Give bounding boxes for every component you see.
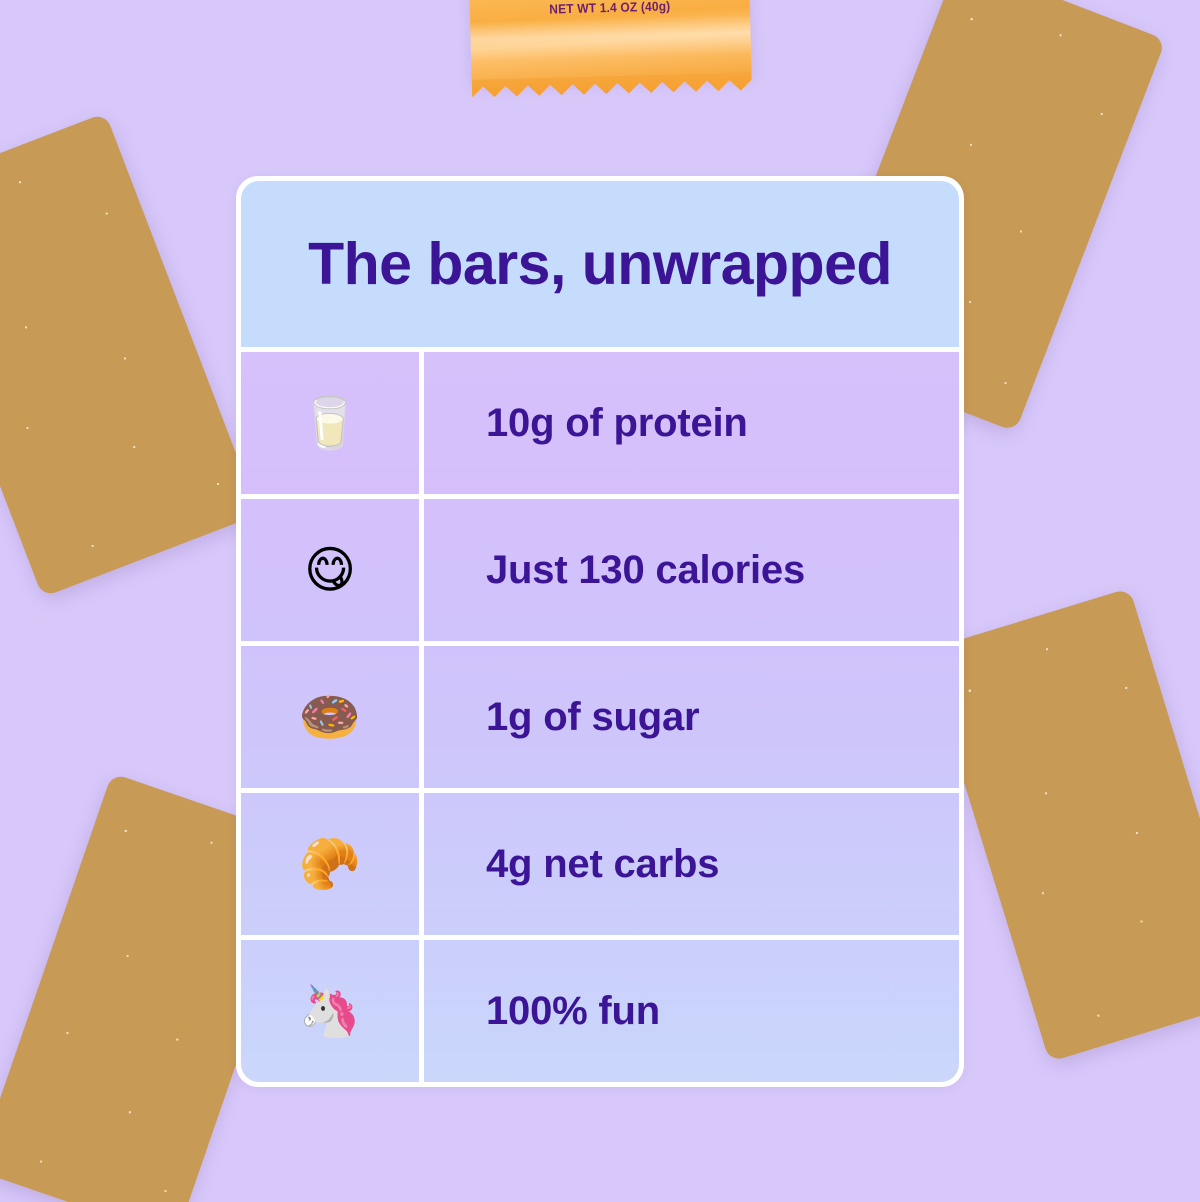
croissant-icon: 🥐: [241, 793, 419, 935]
doughnut-icon: 🍩: [241, 646, 419, 788]
fact-row-sugar: 🍩 1g of sugar: [241, 646, 959, 788]
orange-bar-wrapper-photo: NET WT 1.4 OZ (40g): [468, 0, 752, 98]
fact-row-fun: 🦄 100% fun: [241, 940, 959, 1082]
glass-of-milk-icon: 🥛: [241, 352, 419, 494]
fact-label-fun: 100% fun: [486, 989, 660, 1034]
fact-row-net-carbs: 🥐 4g net carbs: [241, 793, 959, 935]
fact-label-calories: Just 130 calories: [486, 548, 805, 593]
unicorn-face-icon: 🦄: [241, 940, 419, 1082]
fact-label-protein: 10g of protein: [486, 401, 748, 446]
fact-label-sugar: 1g of sugar: [486, 695, 699, 740]
fact-label-cell-protein: 10g of protein: [424, 352, 959, 494]
fact-label-cell-sugar: 1g of sugar: [424, 646, 959, 788]
card-header: The bars, unwrapped: [241, 181, 959, 347]
fact-label-cell-net-carbs: 4g net carbs: [424, 793, 959, 935]
fact-label-net-carbs: 4g net carbs: [486, 842, 719, 887]
fact-label-cell-fun: 100% fun: [424, 940, 959, 1082]
protein-bar-photo-top-left: [0, 113, 259, 598]
fact-row-protein: 🥛 10g of protein: [241, 352, 959, 494]
facts-list: 🥛 10g of protein 😋 Just 130 calories 🍩 1…: [241, 352, 959, 1082]
fact-row-calories: 😋 Just 130 calories: [241, 499, 959, 641]
yum-face-icon: 😋: [241, 499, 419, 641]
page-title: The bars, unwrapped: [308, 230, 892, 298]
fact-label-cell-calories: Just 130 calories: [424, 499, 959, 641]
nutrition-facts-card: The bars, unwrapped 🥛 10g of protein 😋 J…: [236, 176, 964, 1087]
protein-bar-photo-bottom-right: [924, 588, 1200, 1062]
